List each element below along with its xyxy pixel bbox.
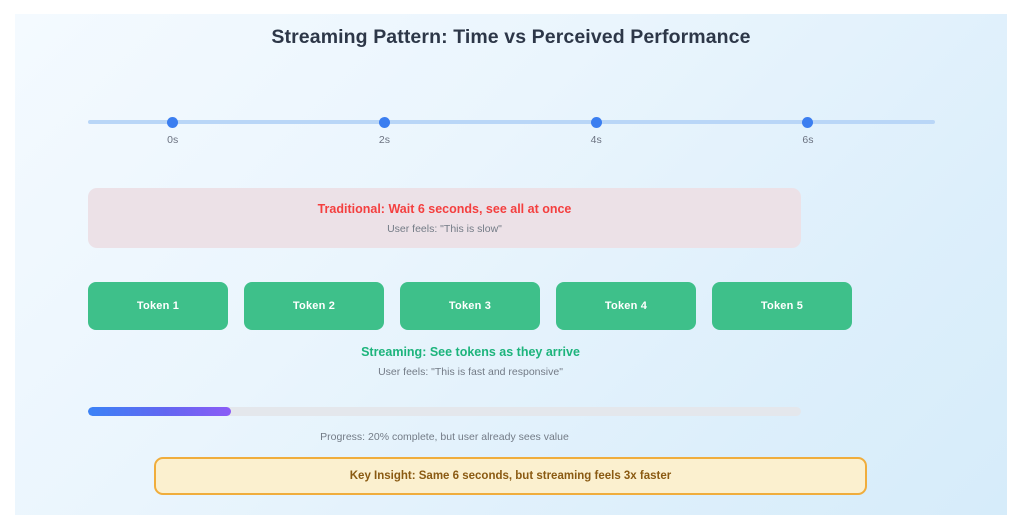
timeline-tick-label: 0s bbox=[153, 134, 193, 146]
traditional-banner: Traditional: Wait 6 seconds, see all at … bbox=[88, 188, 801, 248]
progress-section: Progress: 20% complete, but user already… bbox=[88, 407, 801, 443]
progress-bar-fill bbox=[88, 407, 231, 416]
traditional-heading: Traditional: Wait 6 seconds, see all at … bbox=[318, 202, 572, 216]
progress-label: Progress: 20% complete, but user already… bbox=[88, 431, 801, 443]
timeline-dot-icon bbox=[167, 117, 178, 128]
page-title: Streaming Pattern: Time vs Perceived Per… bbox=[15, 26, 1007, 49]
token-card: Token 4 bbox=[556, 282, 696, 330]
key-insight-text: Key Insight: Same 6 seconds, but streami… bbox=[350, 470, 671, 482]
token-card: Token 2 bbox=[244, 282, 384, 330]
timeline-dot-icon bbox=[802, 117, 813, 128]
token-row: Token 1 Token 2 Token 3 Token 4 Token 5 bbox=[88, 282, 853, 330]
timeline-dot-icon bbox=[591, 117, 602, 128]
traditional-subtext: User feels: "This is slow" bbox=[387, 223, 502, 235]
screenshot-canvas: Streaming Pattern: Time vs Perceived Per… bbox=[0, 0, 1024, 528]
token-card: Token 5 bbox=[712, 282, 852, 330]
streaming-caption: Streaming: See tokens as they arrive Use… bbox=[88, 345, 853, 378]
timeline-tick-label: 6s bbox=[788, 134, 828, 146]
timeline-tick-2s: 2s bbox=[364, 104, 404, 146]
streaming-heading: Streaming: See tokens as they arrive bbox=[88, 345, 853, 359]
timeline-tick-label: 2s bbox=[364, 134, 404, 146]
streaming-subtext: User feels: "This is fast and responsive… bbox=[88, 366, 853, 378]
progress-bar-track bbox=[88, 407, 801, 416]
timeline-tick-label: 4s bbox=[576, 134, 616, 146]
key-insight-box: Key Insight: Same 6 seconds, but streami… bbox=[154, 457, 867, 495]
timeline-tick-0s: 0s bbox=[153, 104, 193, 146]
timeline: 0s 2s 4s 6s bbox=[88, 104, 935, 154]
timeline-dot-icon bbox=[379, 117, 390, 128]
token-card: Token 1 bbox=[88, 282, 228, 330]
timeline-tick-4s: 4s bbox=[576, 104, 616, 146]
timeline-tick-6s: 6s bbox=[788, 104, 828, 146]
diagram-panel: Streaming Pattern: Time vs Perceived Per… bbox=[15, 14, 1007, 515]
token-card: Token 3 bbox=[400, 282, 540, 330]
